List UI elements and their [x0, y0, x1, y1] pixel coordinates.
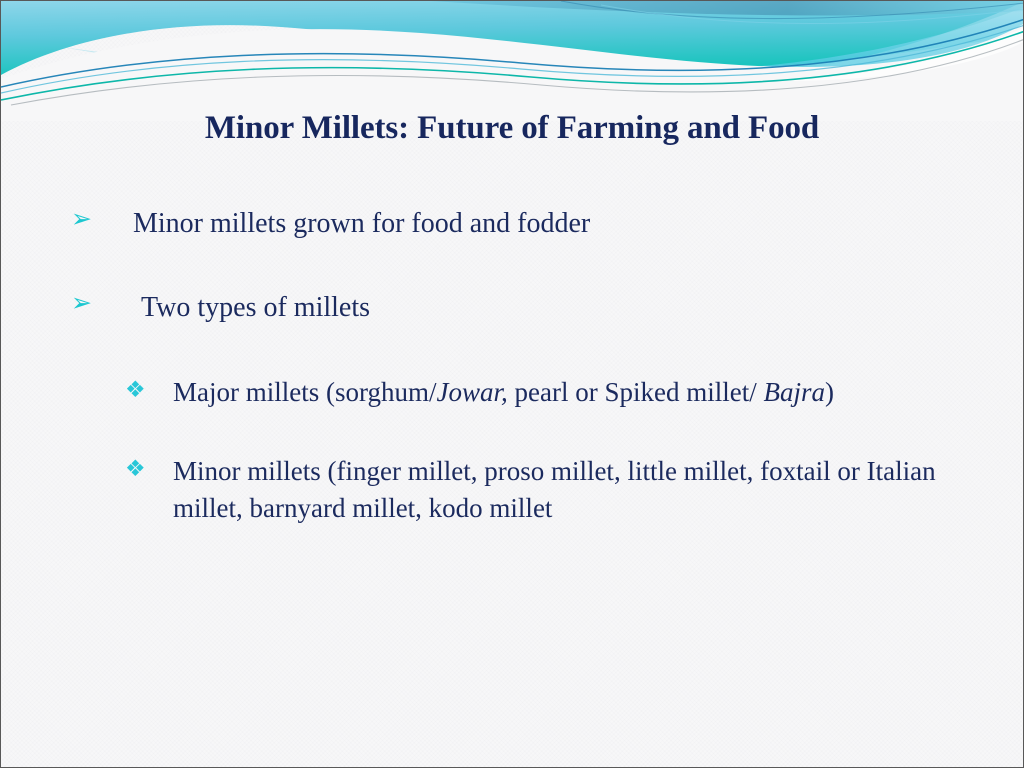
bullet-item-level2: ❖ Minor millets (finger millet, proso mi… [113, 453, 983, 528]
text-run: Major millets (sorghum/ [173, 377, 437, 407]
presentation-slide: Minor Millets: Future of Farming and Foo… [0, 0, 1024, 768]
text-run: ) [825, 377, 834, 407]
bullet-item-level2: ❖ Major millets (sorghum/Jowar, pearl or… [113, 374, 983, 411]
diamond-bullet-icon: ❖ [125, 453, 146, 485]
diamond-bullet-icon: ❖ [125, 374, 146, 406]
bullet-text: Minor millets (finger millet, proso mill… [173, 456, 936, 523]
bullet-text: Major millets (sorghum/Jowar, pearl or S… [173, 377, 834, 407]
bullet-text: Minor millets grown for food and fodder [133, 208, 590, 239]
italic-term: Jowar, [437, 377, 508, 407]
bullet-item-level1: ➢ Minor millets grown for food and fodde… [63, 206, 993, 242]
arrowhead-bullet-icon: ➢ [71, 288, 92, 320]
sub-bullet-group: ❖ Major millets (sorghum/Jowar, pearl or… [113, 374, 993, 528]
bullet-list: ➢ Minor millets grown for food and fodde… [63, 206, 993, 527]
slide-title: Minor Millets: Future of Farming and Foo… [1, 109, 1023, 148]
text-run: pearl or Spiked millet/ [508, 377, 764, 407]
slide-content: Minor Millets: Future of Farming and Foo… [1, 1, 1023, 767]
arrowhead-bullet-icon: ➢ [71, 204, 92, 236]
italic-term: Bajra [763, 377, 825, 407]
bullet-text: Two types of millets [141, 292, 370, 323]
text-run: Minor millets (finger millet, proso mill… [173, 456, 936, 523]
bullet-item-level1: ➢ Two types of millets [63, 290, 993, 326]
